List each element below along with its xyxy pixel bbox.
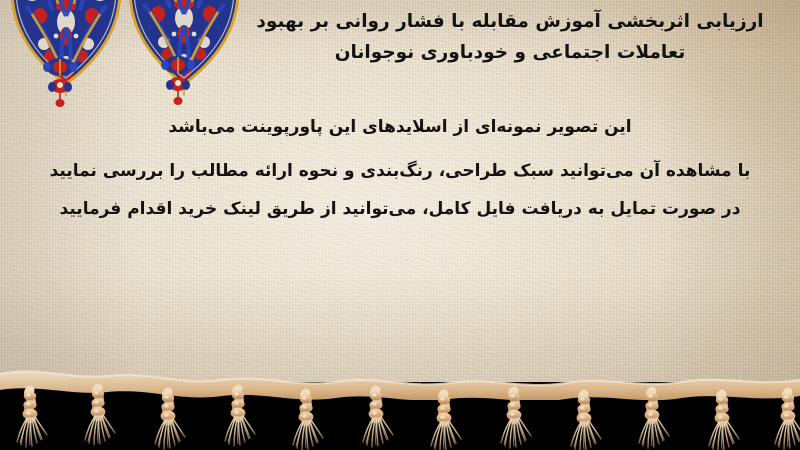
slide-title-line-1: ارزیابی اثربخشی آموزش مقابله با فشار روا… xyxy=(230,6,790,37)
slide-title-line-2: تعاملات اجتماعی و خودباوری نوجوانان xyxy=(230,37,790,68)
carpet-tassel-fringe xyxy=(0,356,800,450)
slide-title: ارزیابی اثربخشی آموزش مقابله با فشار روا… xyxy=(230,6,790,68)
text-layer: ارزیابی اثربخشی آموزش مقابله با فشار روا… xyxy=(0,0,800,382)
slide-body: این تصویر نمونه‌ای از اسلایدهای این پاور… xyxy=(20,108,780,228)
slide-body-line-1: این تصویر نمونه‌ای از اسلایدهای این پاور… xyxy=(20,108,780,146)
slide-body-line-3: در صورت تمایل به دریافت فایل کامل، می‌تو… xyxy=(20,190,780,228)
slide-canvas: ارزیابی اثربخشی آموزش مقابله با فشار روا… xyxy=(0,0,800,450)
slide-body-line-2: با مشاهده آن می‌توانید سبک طراحی، رنگ‌بن… xyxy=(20,152,780,190)
